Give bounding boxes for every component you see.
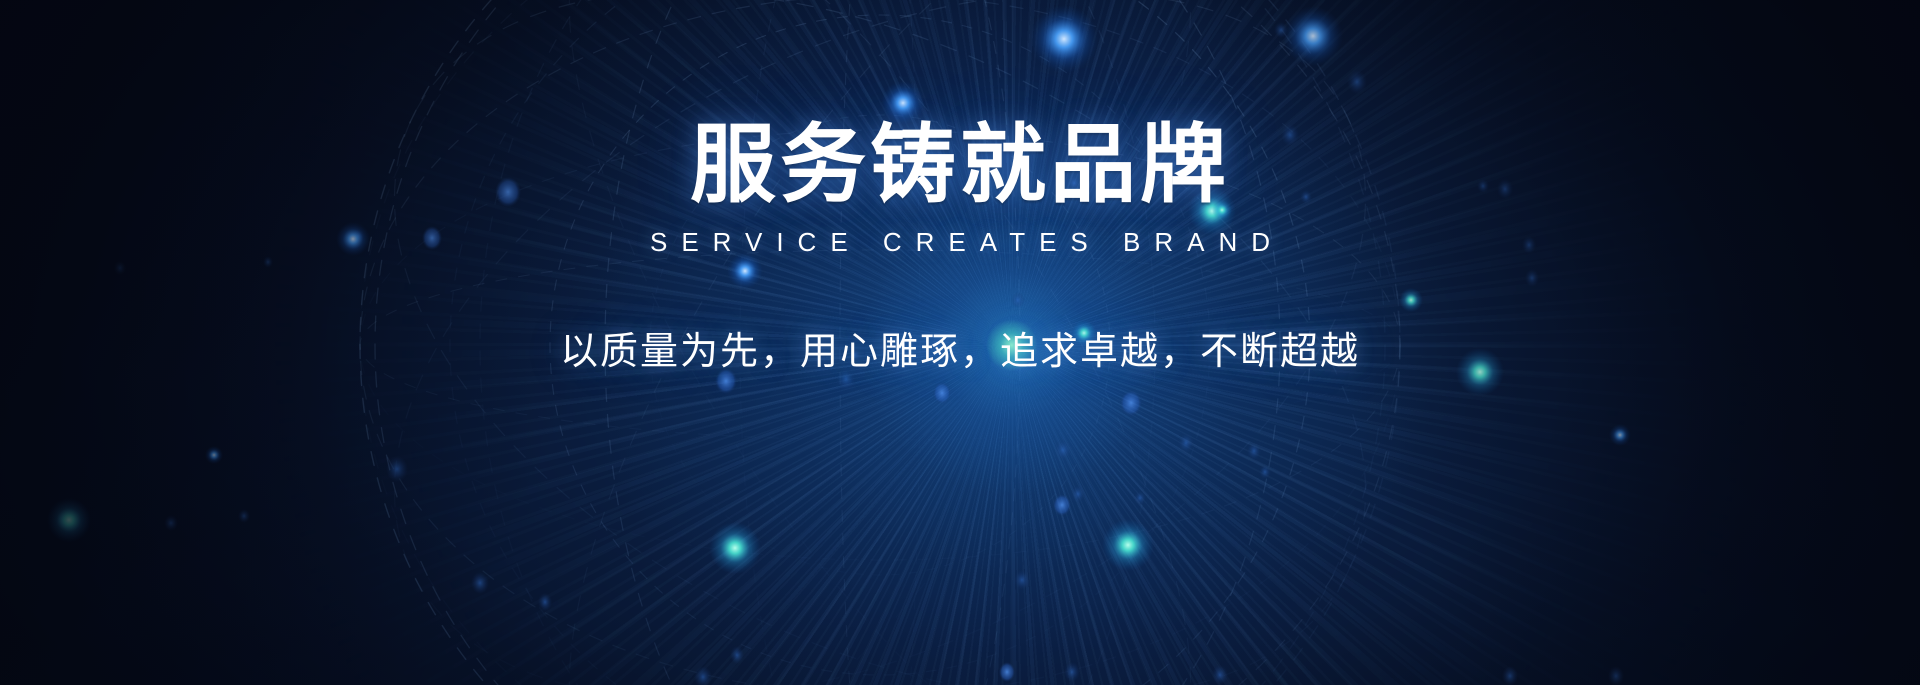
- banner-headline: 服务铸就品牌: [690, 120, 1230, 211]
- banner-content: 服务铸就品牌 SERVICE CREATES BRAND 以质量为先，用心雕琢，…: [0, 0, 1920, 685]
- hero-banner: 服务铸就品牌 SERVICE CREATES BRAND 以质量为先，用心雕琢，…: [0, 0, 1920, 685]
- banner-subheadline: SERVICE CREATES BRAND: [636, 227, 1284, 258]
- banner-tagline: 以质量为先，用心雕琢，追求卓越，不断超越: [560, 320, 1360, 375]
